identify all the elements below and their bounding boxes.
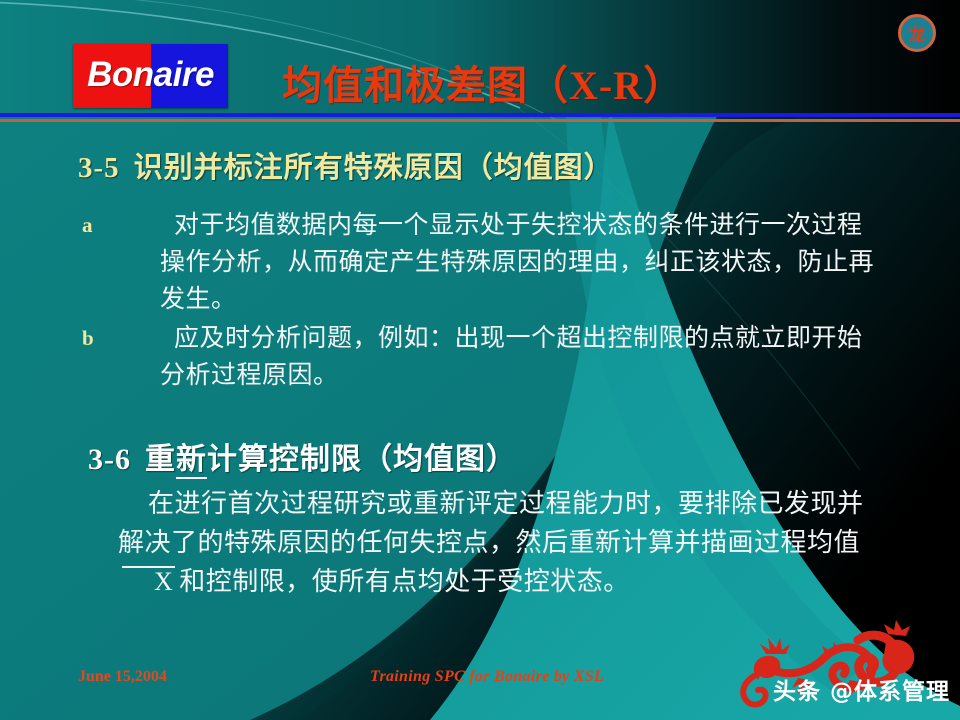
paragraph-text-a: 对于均值数据内每一个显示处于失控状态的条件进行一次过程操作分析，从而确定产生特殊…	[160, 207, 882, 318]
footer-center-text: Training SPC for Bonaire by XSL	[370, 668, 604, 686]
bonaire-logo: Bonaire	[73, 44, 228, 108]
section-heading-3-6: 3-6重新计算控制限（均值图）	[88, 434, 517, 478]
slide-header: Bonaire 均值和极差图（X-R）	[0, 0, 960, 122]
x-bar-symbol: X	[122, 566, 175, 595]
section-number-3-6: 3-6	[88, 443, 131, 476]
closing-paragraph: 在进行首次过程研究或重新评定过程能力时，要排除已发现并解决了的特殊原因的任何失控…	[118, 484, 888, 601]
slide-canvas: Bonaire 均值和极差图（X-R） 3-5识别并标注所有特殊原因（均值图） …	[0, 0, 960, 720]
paragraph-b: b 应及时分析问题，例如：出现一个超出控制限的点就立即开始分析过程原因。	[82, 320, 882, 394]
footer-date: June 15,2004	[78, 668, 167, 686]
closing-paragraph-part2: 和控制限，使所有点均处于受控状态。	[179, 567, 630, 596]
paragraph-marker-b: b	[82, 320, 94, 357]
paragraph-text-b: 应及时分析问题，例如：出现一个超出控制限的点就立即开始分析过程原因。	[160, 320, 882, 394]
section-heading-3-5: 3-5识别并标注所有特殊原因（均值图）	[78, 144, 614, 186]
closing-paragraph-part1: 在进行首次过程研究或重新评定过程能力时，要排除已发现并解决了的特殊原因的任何失控…	[118, 489, 864, 557]
watermark-label: 头条 @体系管理	[773, 672, 950, 706]
section-title-3-5: 识别并标注所有特殊原因（均值图）	[134, 152, 614, 184]
section-number-3-5: 3-5	[78, 152, 120, 184]
paragraph-marker-a: a	[82, 207, 93, 244]
dragon-badge-icon: 龙	[898, 14, 936, 52]
section-title-3-6-part1: 重	[145, 443, 176, 476]
section-title-3-6-part2: 计算控制限（均值图）	[207, 443, 517, 476]
section-title-3-6-underlined: 新	[176, 443, 207, 479]
header-divider-blue	[0, 113, 960, 117]
page-title: 均值和极差图（X-R）	[282, 53, 684, 111]
logo-wordmark: Bonaire	[73, 55, 228, 95]
paragraph-a: a 对于均值数据内每一个显示处于失控状态的条件进行一次过程操作分析，从而确定产生…	[82, 207, 882, 318]
